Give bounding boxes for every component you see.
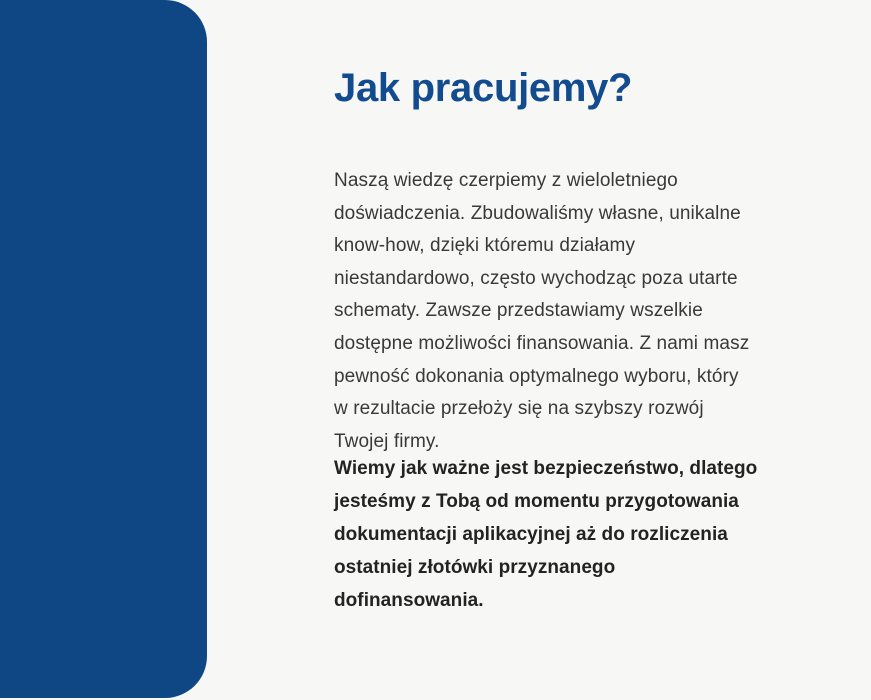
page-title: Jak pracujemy? bbox=[334, 66, 632, 110]
left-blue-panel bbox=[0, 0, 207, 698]
highlight-paragraph: Wiemy jak ważne jest bezpieczeństwo, dla… bbox=[334, 452, 766, 617]
intro-paragraph: Naszą wiedzę czerpiemy z wieloletniego d… bbox=[334, 165, 754, 458]
page-root: Jak pracujemy? Naszą wiedzę czerpiemy z … bbox=[0, 0, 871, 700]
